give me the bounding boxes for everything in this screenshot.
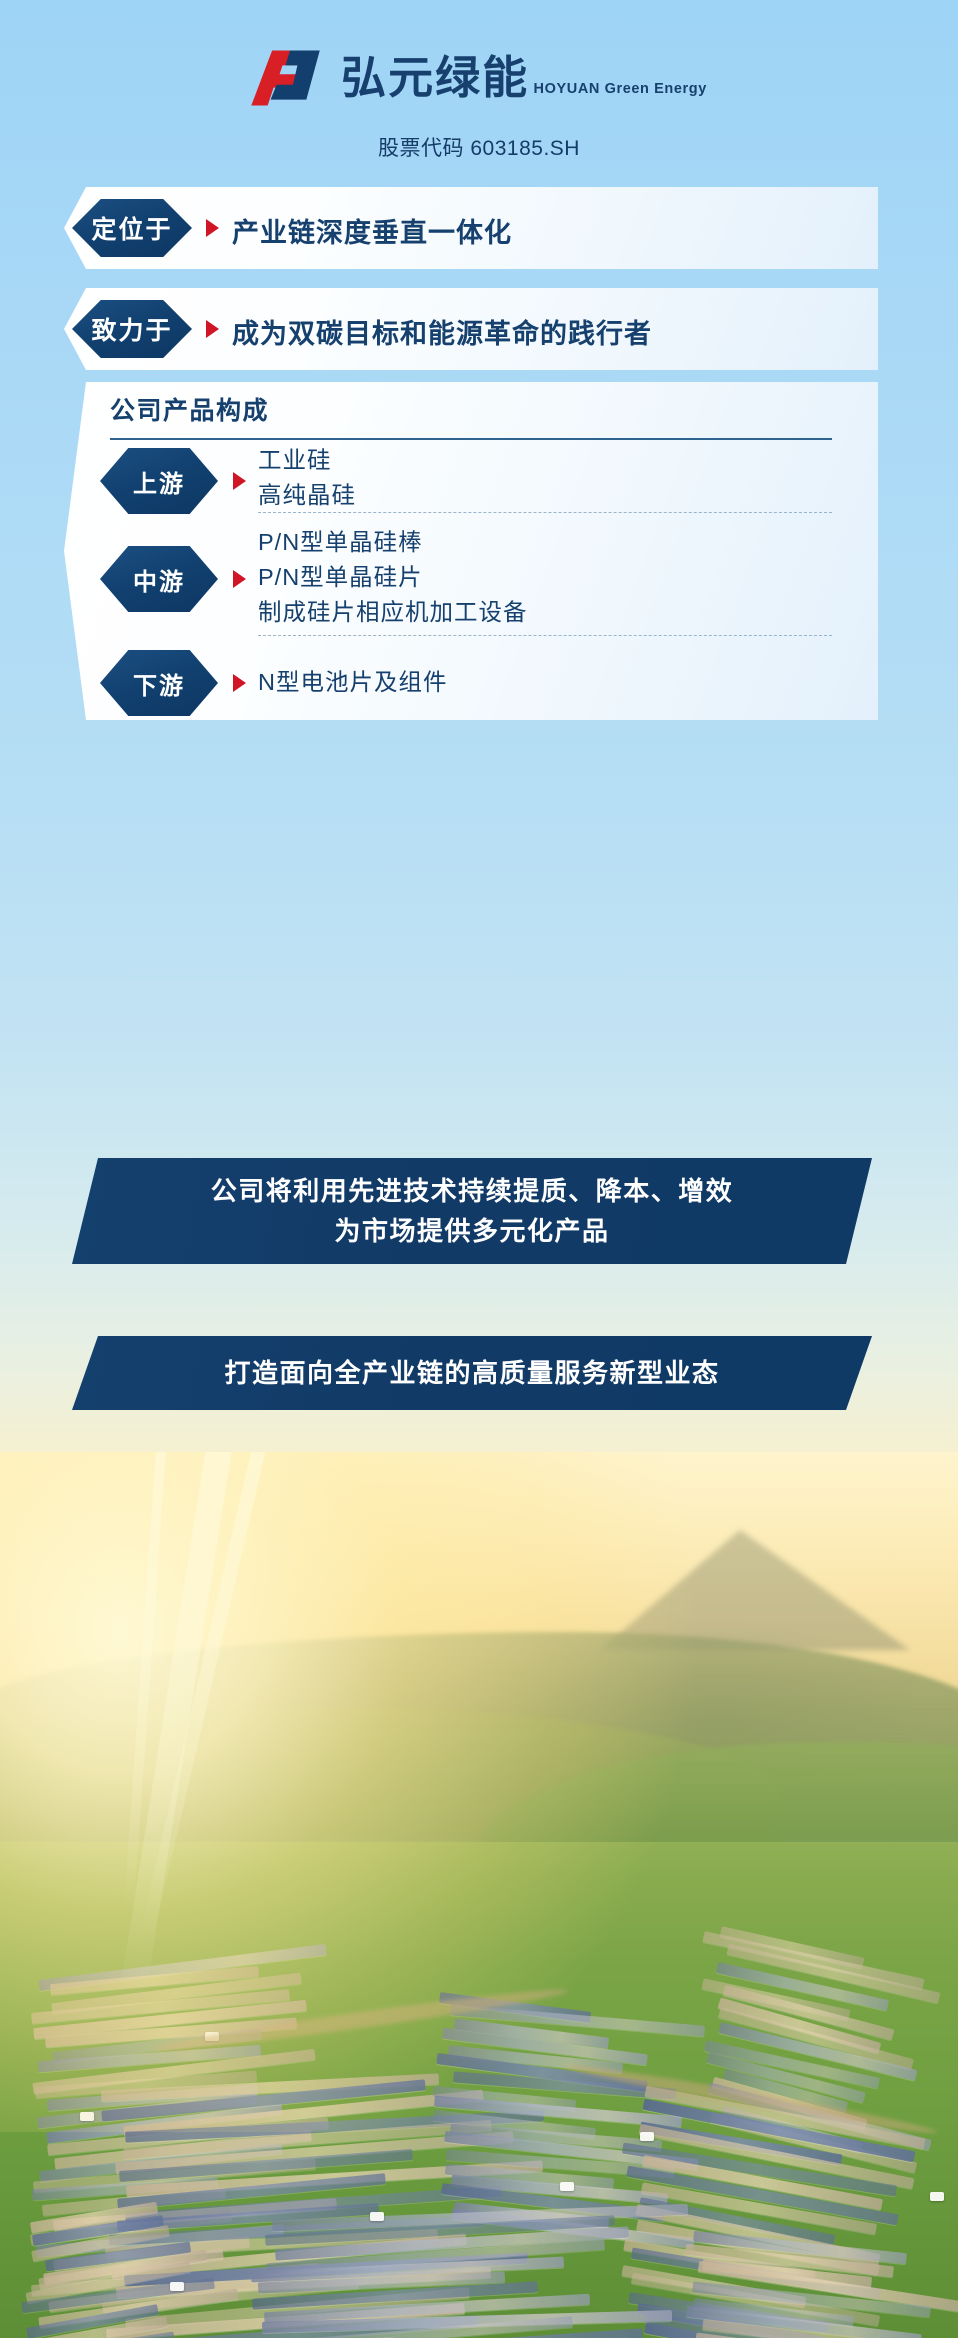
hero-photo-solar-farm: // rows generated below in the populate … <box>0 1452 958 2338</box>
site-building <box>170 2282 184 2291</box>
slogan-banner-1: 公司将利用先进技术持续提质、降本、增效 为市场提供多元化产品 <box>72 1158 872 1264</box>
hoyuan-logo-mark-icon <box>251 46 323 110</box>
site-building <box>370 2212 384 2221</box>
slogan-line: 打造面向全产业链的高质量服务新型业态 <box>224 1353 719 1393</box>
site-building <box>80 2112 94 2121</box>
brand-name-en: HOYUAN Green Energy <box>534 81 707 97</box>
tier-badge-upstream-label: 上游 <box>133 464 185 499</box>
site-building <box>560 2182 574 2191</box>
tier-divider-1 <box>258 512 832 513</box>
arrow-icon-downstream <box>233 674 246 692</box>
site-building <box>640 2132 654 2141</box>
tier-item: P/N型单晶硅棒 <box>258 525 528 560</box>
brand-name-cn: 弘元绿能 <box>341 52 529 103</box>
slogan-banner-2: 打造面向全产业链的高质量服务新型业态 <box>72 1336 872 1410</box>
arrow-icon-2 <box>206 320 219 338</box>
tier-item: P/N型单晶硅片 <box>258 560 528 595</box>
product-card-title: 公司产品构成 <box>110 385 269 437</box>
tier-badge-midstream-label: 中游 <box>133 562 185 597</box>
statement-badge-1-label: 定位于 <box>91 210 172 246</box>
tier-item: 制成硅片相应机加工设备 <box>258 595 528 630</box>
arrow-icon-upstream <box>233 472 246 490</box>
stock-code-label: 股票代码 603185.SH <box>0 132 958 162</box>
statement-text-2: 成为双碳目标和能源革命的践行者 <box>232 312 652 351</box>
logo-text-block: 弘元绿能 HOYUAN Green Energy <box>341 54 707 101</box>
statement-text-1: 产业链深度垂直一体化 <box>232 211 512 250</box>
arrow-icon-midstream <box>233 570 246 588</box>
tier-item: 高纯晶硅 <box>258 478 356 513</box>
product-title-divider <box>110 438 832 440</box>
mountain-peak <box>600 1530 910 1650</box>
slogan-line: 为市场提供多元化产品 <box>211 1211 734 1251</box>
brand-header: 弘元绿能 HOYUAN Green Energy <box>0 46 958 115</box>
poster-page: // rows generated below in the populate … <box>0 0 958 2338</box>
tier-badge-downstream-label: 下游 <box>133 666 185 701</box>
statement-badge-2-label: 致力于 <box>91 311 172 347</box>
tier-item: N型电池片及组件 <box>258 665 447 700</box>
tier-divider-2 <box>258 635 832 636</box>
tier-items-midstream: P/N型单晶硅棒 P/N型单晶硅片 制成硅片相应机加工设备 <box>258 525 528 630</box>
slogan-line: 公司将利用先进技术持续提质、降本、增效 <box>211 1171 734 1211</box>
arrow-icon-1 <box>206 219 219 237</box>
logo-lockup: 弘元绿能 HOYUAN Green Energy <box>251 46 707 110</box>
tier-item: 工业硅 <box>258 443 356 478</box>
site-building <box>930 2192 944 2201</box>
tier-items-upstream: 工业硅 高纯晶硅 <box>258 443 356 513</box>
tier-items-downstream: N型电池片及组件 <box>258 665 447 700</box>
